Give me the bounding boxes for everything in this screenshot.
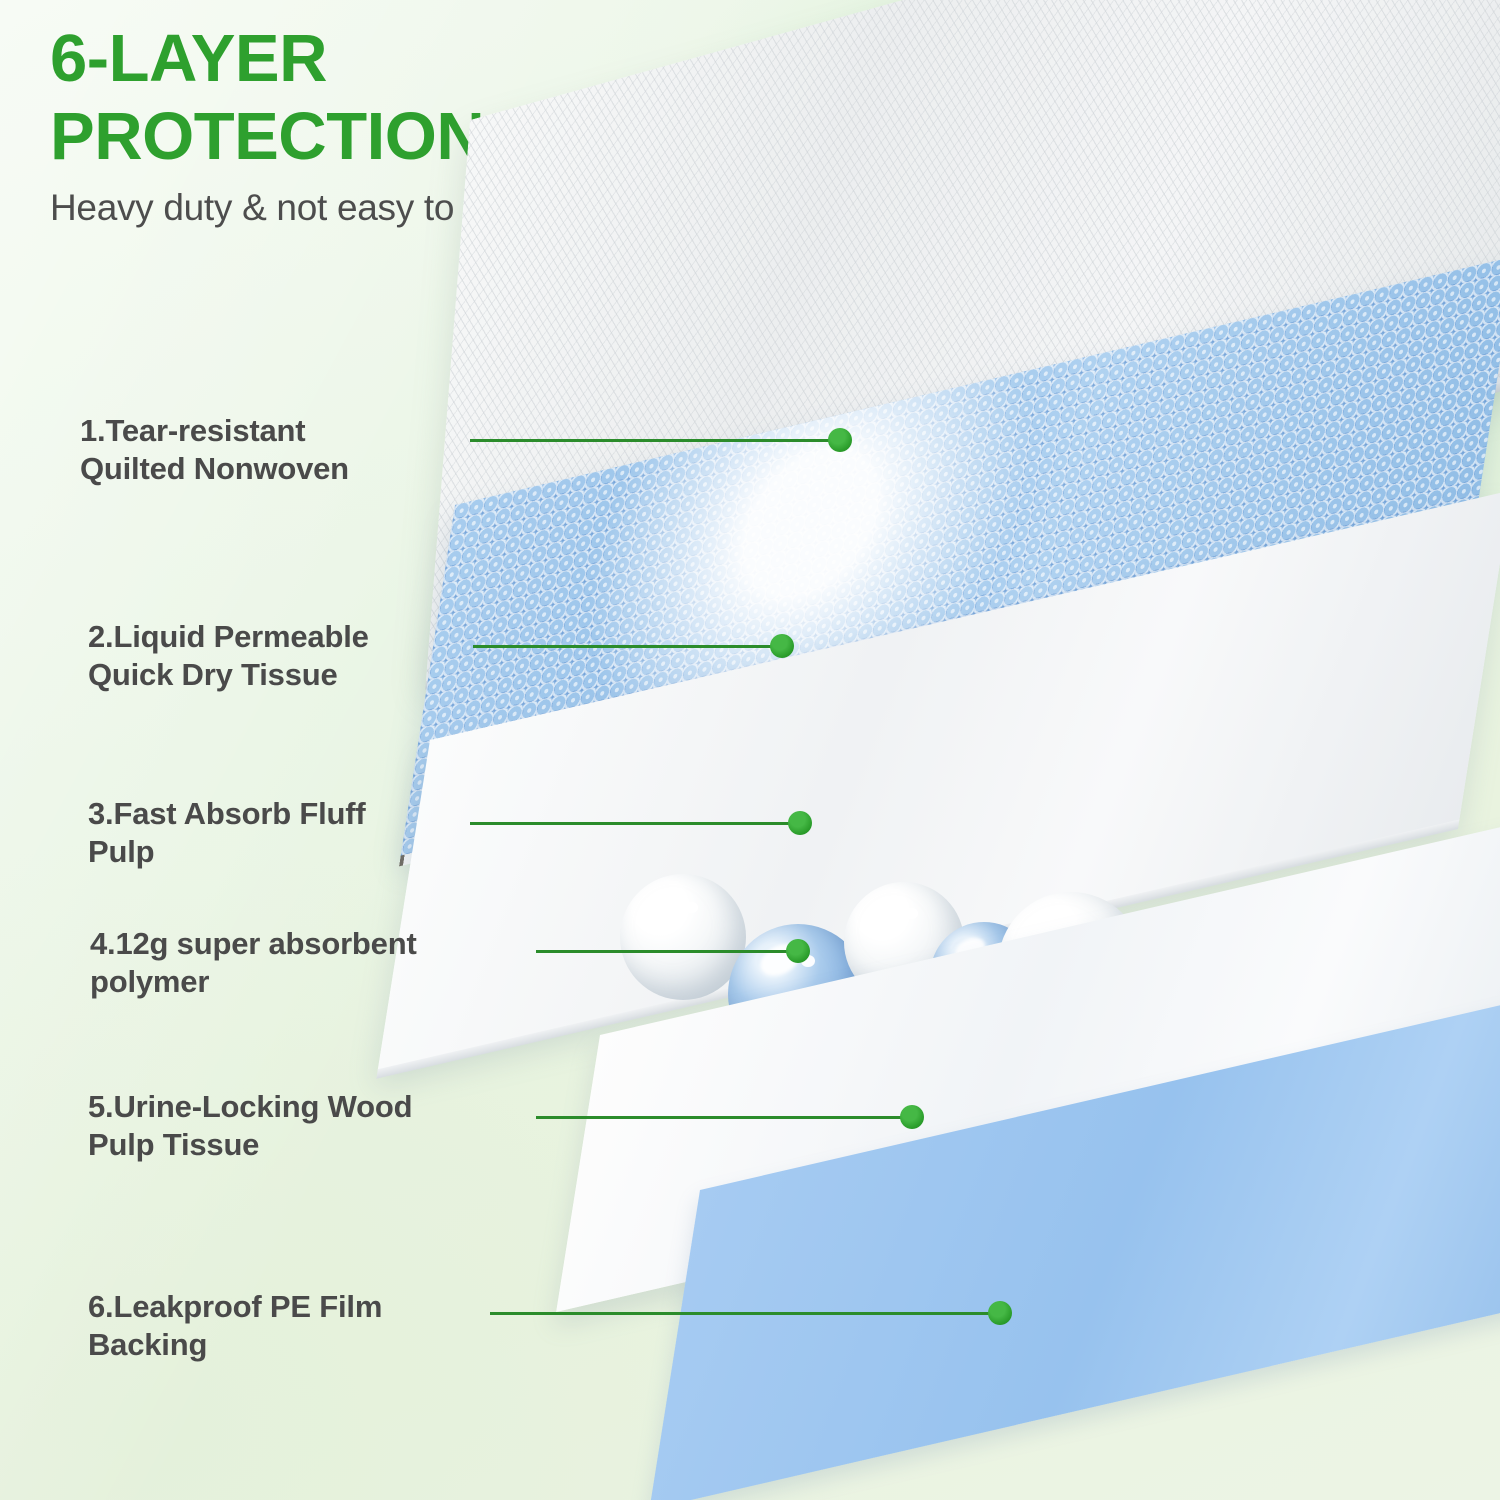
callout-label-6: 6.Leakproof PE Film Backing [88,1288,528,1364]
leader-line-1 [470,439,842,442]
callout-label-2: 2.Liquid Permeable Quick Dry Tissue [88,618,488,694]
leader-dot-3 [788,811,812,835]
callout-label-3: 3.Fast Absorb Fluff Pulp [88,795,488,871]
leader-dot-6 [988,1301,1012,1325]
leader-line-6 [490,1312,1002,1315]
callout-label-1: 1.Tear-resistant Quilted Nonwoven [80,412,480,488]
leader-line-4 [536,950,800,953]
leader-dot-4 [786,939,810,963]
polymer-bead [620,874,746,1000]
leader-line-3 [470,822,802,825]
leader-dot-2 [770,634,794,658]
leader-line-2 [473,645,785,648]
leader-dot-5 [900,1105,924,1129]
callout-label-5: 5.Urine-Locking Wood Pulp Tissue [88,1088,528,1164]
leader-line-5 [536,1116,914,1119]
leader-dot-1 [828,428,852,452]
callout-label-4: 4.12g super absorbent polymer [90,925,530,1001]
exploded-layer-diagram [0,0,1500,1500]
